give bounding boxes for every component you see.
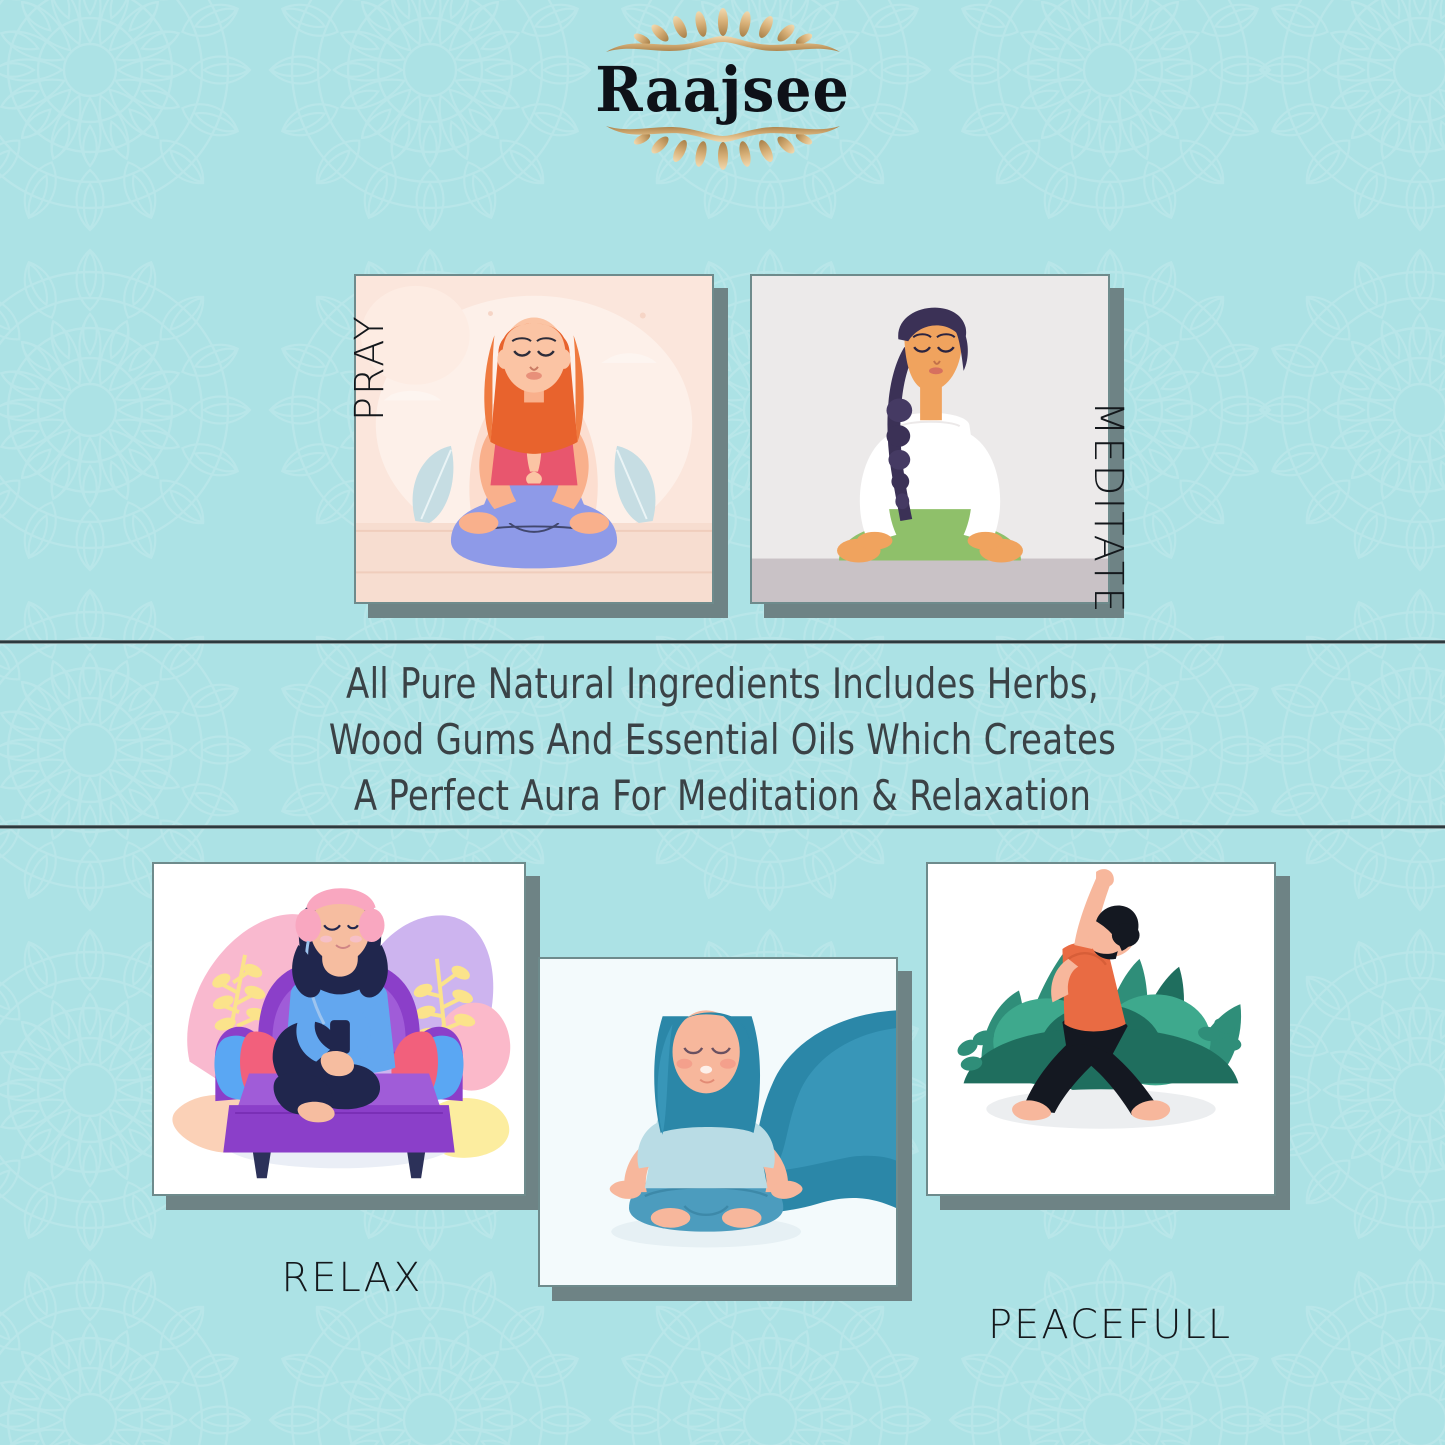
- panel-activate[interactable]: [538, 957, 898, 1287]
- flourish-bottom-icon: [598, 122, 848, 170]
- panel-label-meditate: MEDITATE: [1036, 342, 1178, 615]
- panel-label-pray: PRAY: [300, 314, 442, 480]
- tagline-line-1: All Pure Natural Ingredients Includes He…: [72, 656, 1373, 712]
- tagline-line-3: A Perfect Aura For Meditation & Relaxati…: [72, 768, 1373, 824]
- peacefull-yoga-label-line-1: PEACEFULL: [935, 1302, 1285, 1349]
- tagline: All Pure Natural Ingredients Includes He…: [0, 656, 1445, 824]
- panel-peacefull-yoga[interactable]: [926, 862, 1276, 1196]
- panel-label-peacefull-yoga: PEACEFULL YOGA: [935, 1208, 1285, 1445]
- panel-relax[interactable]: [152, 862, 526, 1196]
- divider-top: [0, 640, 1445, 644]
- brand-logo: Raajsee: [0, 8, 1445, 170]
- tagline-line-2: Wood Gums And Essential Oils Which Creat…: [72, 712, 1373, 768]
- brand-name: Raajsee: [58, 58, 1387, 122]
- flourish-top-icon: [598, 8, 848, 56]
- divider-bottom: [0, 825, 1445, 829]
- activate-illustration: [540, 959, 896, 1285]
- peacefull-yoga-illustration: [928, 864, 1274, 1194]
- relax-illustration: [154, 864, 524, 1194]
- product-infographic: Raajsee: [0, 0, 1445, 1445]
